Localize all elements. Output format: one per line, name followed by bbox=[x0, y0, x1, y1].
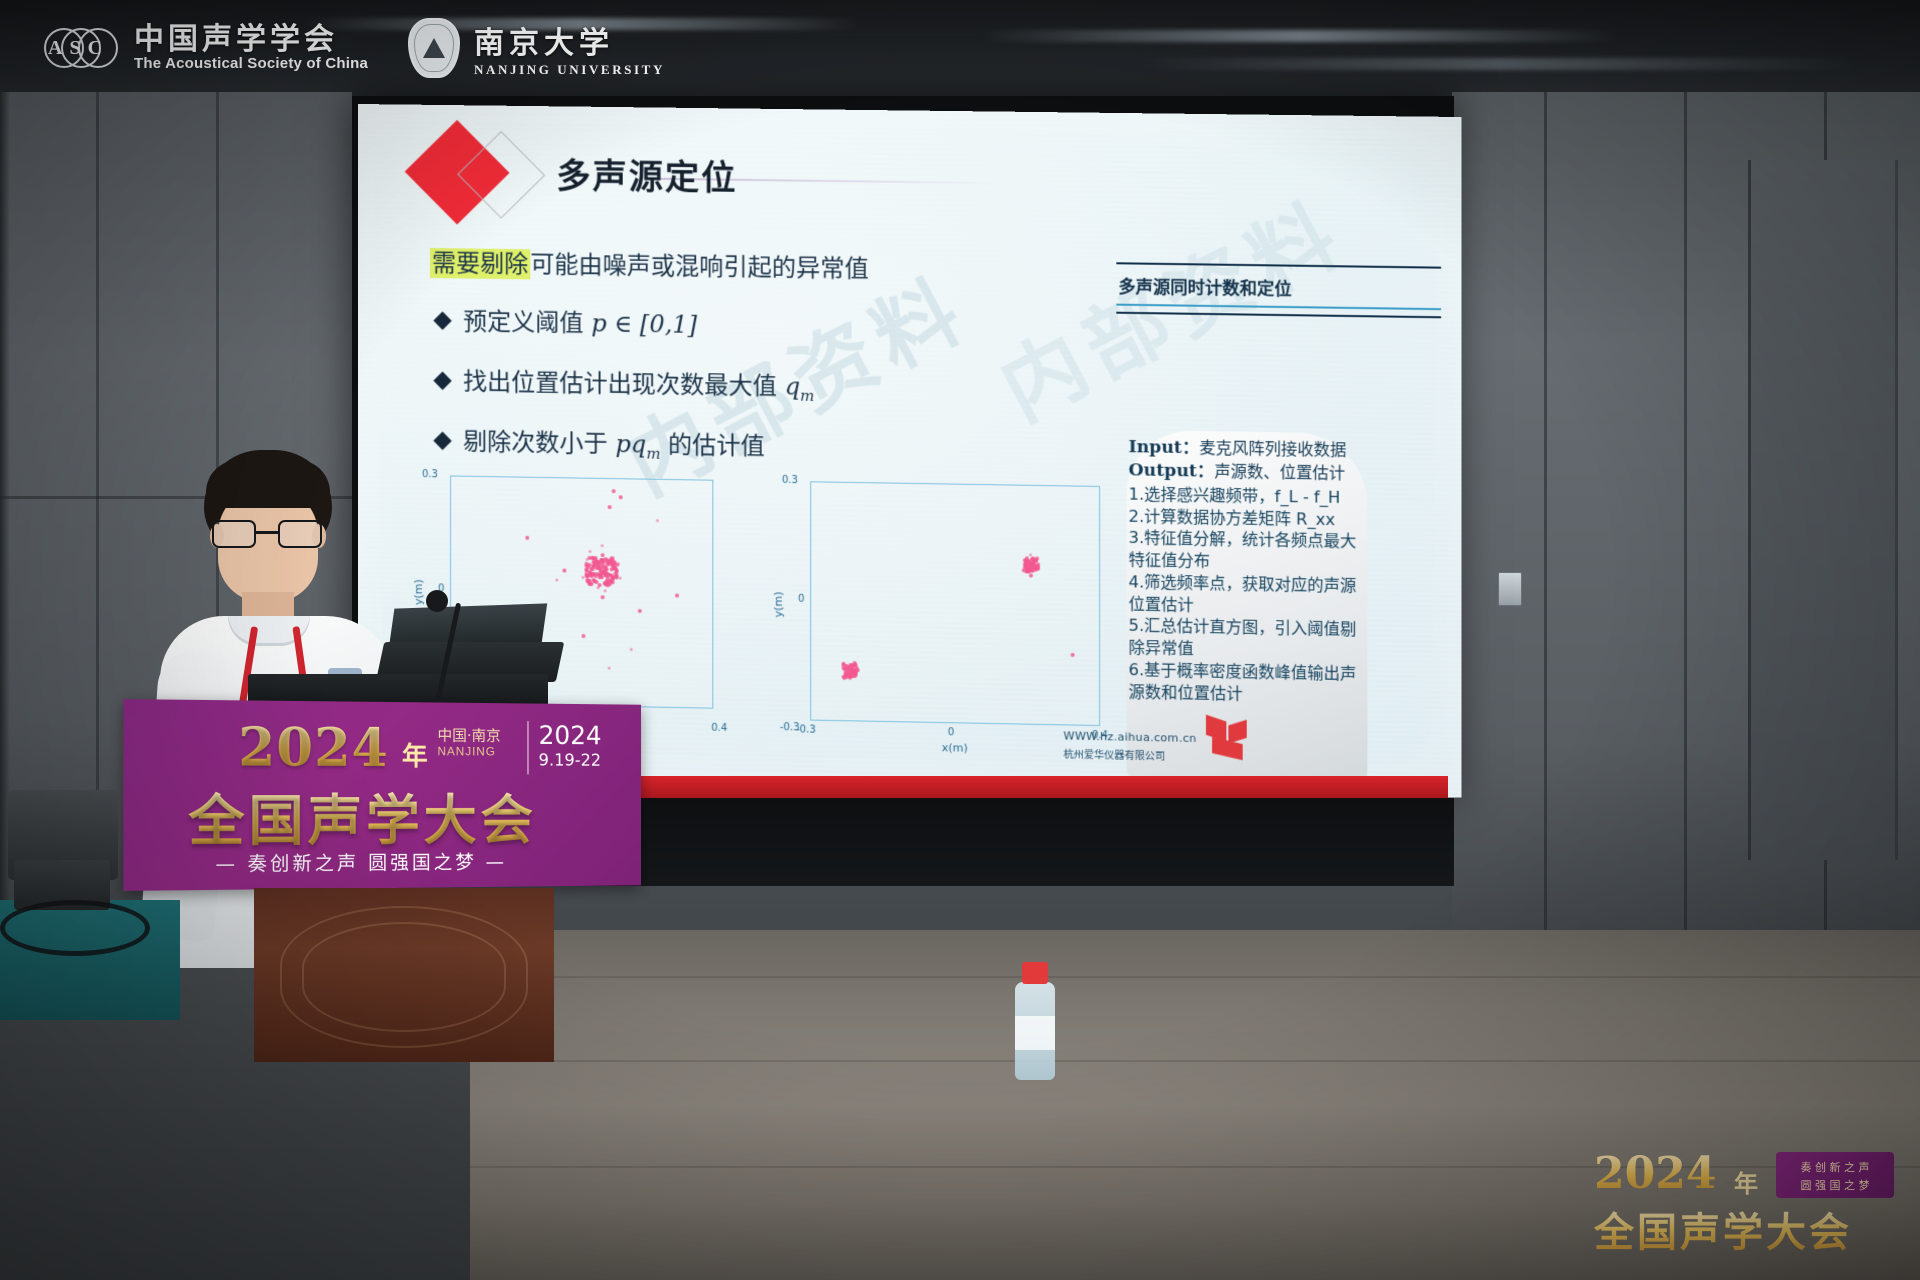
scatter-point bbox=[619, 495, 623, 499]
scatter-point bbox=[600, 595, 604, 599]
microphone-head-icon bbox=[426, 590, 448, 612]
scatter-point bbox=[601, 558, 605, 562]
scatter-point bbox=[616, 562, 620, 566]
scatter-point bbox=[606, 583, 610, 587]
banner-slogan: — 奏创新之声 圆强国之梦 — bbox=[215, 847, 506, 876]
ceiling-light-strip bbox=[980, 30, 1620, 42]
algorithm-input-label: Input： bbox=[1129, 437, 1200, 458]
scatter-point bbox=[1023, 559, 1027, 563]
lead-highlight: 需要剔除 bbox=[430, 248, 530, 279]
slide-bullet-2: 找出位置估计出现次数最大值 qm bbox=[436, 361, 814, 402]
scatter-point bbox=[581, 634, 585, 638]
algorithm-step: 5.汇总估计直方图，引入阈值剔除异常值 bbox=[1129, 615, 1368, 663]
y-tick: 0.3 bbox=[782, 475, 798, 486]
scatter-point bbox=[675, 594, 679, 598]
x-tick: 0.4 bbox=[711, 723, 727, 734]
banner-year: 2024 bbox=[238, 717, 389, 779]
wall-panel-seam bbox=[1684, 92, 1687, 992]
bullet-2-text: 找出位置估计出现次数最大值 bbox=[463, 368, 784, 401]
slide-title: 多声源定位 bbox=[556, 148, 737, 199]
corner-year: 2024 bbox=[1594, 1148, 1716, 1199]
x-tick: -0.3 bbox=[796, 724, 816, 735]
diamond-bullet-icon bbox=[433, 312, 451, 330]
algorithm-output-label: Output： bbox=[1129, 461, 1215, 483]
ceiling-light-strip bbox=[1140, 58, 1860, 70]
pine-tree-icon bbox=[423, 38, 445, 58]
scatter-point bbox=[599, 569, 603, 573]
corner-watermark: 2024 年 全国声学大会 奏 创 新 之 声 圆 强 国 之 梦 bbox=[1594, 1146, 1894, 1256]
bullet-3-math: pq bbox=[615, 430, 646, 459]
scatter-point bbox=[604, 589, 607, 592]
scatter-chart-right: 0.3 0 -0.3 y(m) -0.3 0 0.4 x(m) bbox=[756, 470, 1100, 758]
corner-slogan-line1: 奏 创 新 之 声 bbox=[1801, 1159, 1870, 1175]
banner-main-title: 全国声学大会 bbox=[188, 776, 536, 857]
nju-name-en: NANJING UNIVERSITY bbox=[474, 62, 665, 78]
scatter-point bbox=[610, 567, 614, 571]
banner-date-year: 2024 bbox=[539, 721, 602, 751]
scatter-point bbox=[849, 675, 853, 679]
scatter-point bbox=[589, 573, 593, 577]
door-frame bbox=[1748, 160, 1898, 860]
scatter-point bbox=[854, 671, 858, 675]
podium-ornament bbox=[302, 922, 506, 1032]
podium-banner: 2024 年 中国·南京 NANJING 2024 9.19-22 全国声学大会… bbox=[123, 699, 641, 891]
scatter-point bbox=[608, 667, 611, 670]
speaker-fringe bbox=[206, 460, 330, 508]
scatter-point bbox=[609, 559, 613, 563]
nju-name-cn: 南京大学 bbox=[474, 18, 665, 62]
scatter-point bbox=[630, 648, 633, 651]
algorithm-card: 多声源同时计数和定位 Input：麦克风阵列接收数据 Output：声源数、位置… bbox=[1116, 262, 1441, 318]
podium-wood-panel bbox=[254, 888, 554, 1062]
scatter-point bbox=[589, 567, 593, 571]
podium: 2024 年 中国·南京 NANJING 2024 9.19-22 全国声学大会… bbox=[130, 702, 650, 1062]
algorithm-rule-bot bbox=[1116, 311, 1441, 318]
lead-rest: 可能由噪声或混响引起的异常值 bbox=[530, 250, 869, 283]
corner-main-title: 全国声学大会 bbox=[1594, 1200, 1852, 1258]
banner-divider bbox=[527, 721, 529, 774]
scatter-point bbox=[600, 544, 603, 547]
bullet-3-sub: m bbox=[646, 444, 660, 462]
bullet-2-math: q bbox=[785, 372, 801, 400]
wall-panel-seam bbox=[1544, 92, 1547, 992]
scatter-point bbox=[1070, 653, 1074, 657]
banner-date-range: 9.19-22 bbox=[539, 751, 602, 771]
scatter-point bbox=[656, 519, 659, 522]
corner-slogan-line2: 圆 强 国 之 梦 bbox=[1801, 1177, 1870, 1193]
scatter-point bbox=[592, 557, 596, 561]
nanjing-university-shield-icon bbox=[408, 18, 460, 78]
scatter-point bbox=[526, 536, 530, 540]
slide-bullet-1: 预定义阈值 p ∈ [0,1] bbox=[436, 301, 697, 340]
asc-logo-icon: ASC bbox=[44, 25, 120, 71]
banner-city-cn: 中国·南京 bbox=[437, 724, 500, 745]
scatter-point bbox=[597, 583, 601, 587]
algorithm-step: 6.基于概率密度函数峰值输出声源数和位置估计 bbox=[1129, 659, 1368, 707]
scatter-point bbox=[1026, 568, 1030, 572]
scatter-point bbox=[608, 573, 612, 577]
banner-city-en: NANJING bbox=[437, 744, 495, 758]
x-tick: 0 bbox=[948, 727, 954, 738]
bullet-1-math: p ∈ [0,1] bbox=[591, 309, 697, 339]
asc-society-name-en: The Acoustical Society of China bbox=[134, 55, 368, 72]
algorithm-output-value: 声源数、位置估计 bbox=[1214, 462, 1345, 483]
y-axis-label: y(m) bbox=[772, 591, 785, 617]
diamond-bullet-icon bbox=[433, 432, 451, 450]
scatter-point bbox=[586, 579, 590, 583]
conference-photo-scene: 内部资料 内部资料 多声源定位 需要剔除可能由噪声或混响引起的异常值 预定义阈值… bbox=[0, 0, 1920, 1280]
bullet-3-tail: 的估计值 bbox=[660, 431, 764, 461]
algorithm-step: 4.筛选频率点，获取对应的声源位置估计 bbox=[1129, 571, 1368, 619]
scatter-point bbox=[563, 569, 567, 573]
scatter-point bbox=[589, 550, 592, 553]
scatter-point bbox=[619, 576, 622, 579]
bullet-1-text: 预定义阈值 bbox=[463, 307, 591, 337]
bullet-2-sub: m bbox=[800, 386, 814, 404]
scatter-point bbox=[608, 505, 612, 509]
scatter-point bbox=[597, 573, 601, 577]
scatter-point bbox=[595, 566, 599, 570]
banner-year-suffix: 年 bbox=[402, 736, 428, 773]
scatter-point bbox=[1029, 573, 1033, 577]
slide-footer-url: WWW.hz.aihua.com.cn bbox=[1063, 729, 1196, 745]
plot-area bbox=[810, 481, 1100, 726]
bottle-cap bbox=[1022, 962, 1048, 984]
eyeglasses bbox=[212, 520, 324, 550]
algorithm-step: 3.特征值分解，统计各频点最大特征值分布 bbox=[1129, 527, 1368, 575]
slide-footer-company: 杭州爱华仪器有限公司 bbox=[1063, 745, 1165, 762]
scatter-point bbox=[555, 578, 558, 581]
top-logo-bar: ASC 中国声学学会 The Acoustical Society of Chi… bbox=[44, 18, 665, 78]
scatter-point bbox=[611, 489, 615, 493]
scatter-point bbox=[1036, 564, 1040, 568]
diamond-bullet-icon bbox=[433, 372, 451, 390]
corner-slogan-badge: 奏 创 新 之 声 圆 强 国 之 梦 bbox=[1776, 1152, 1894, 1198]
algorithm-heading: 多声源同时计数和定位 bbox=[1116, 264, 1441, 308]
coiled-cable bbox=[0, 900, 150, 956]
y-tick: 0 bbox=[798, 594, 804, 605]
asc-acronym: ASC bbox=[48, 37, 109, 60]
vendor-logo-icon bbox=[1206, 718, 1249, 761]
slide-lead-line: 需要剔除可能由噪声或混响引起的异常值 bbox=[430, 243, 869, 284]
scatter-point bbox=[592, 578, 596, 582]
corner-year-suffix: 年 bbox=[1734, 1164, 1758, 1199]
asc-society-name-cn: 中国声学学会 bbox=[134, 24, 368, 56]
wall-fixture bbox=[1498, 572, 1522, 606]
algorithm-input-value: 麦克风阵列接收数据 bbox=[1199, 438, 1346, 460]
scatter-point bbox=[638, 609, 642, 613]
x-axis-label: x(m) bbox=[942, 741, 968, 755]
water-bottle bbox=[1012, 962, 1058, 1080]
